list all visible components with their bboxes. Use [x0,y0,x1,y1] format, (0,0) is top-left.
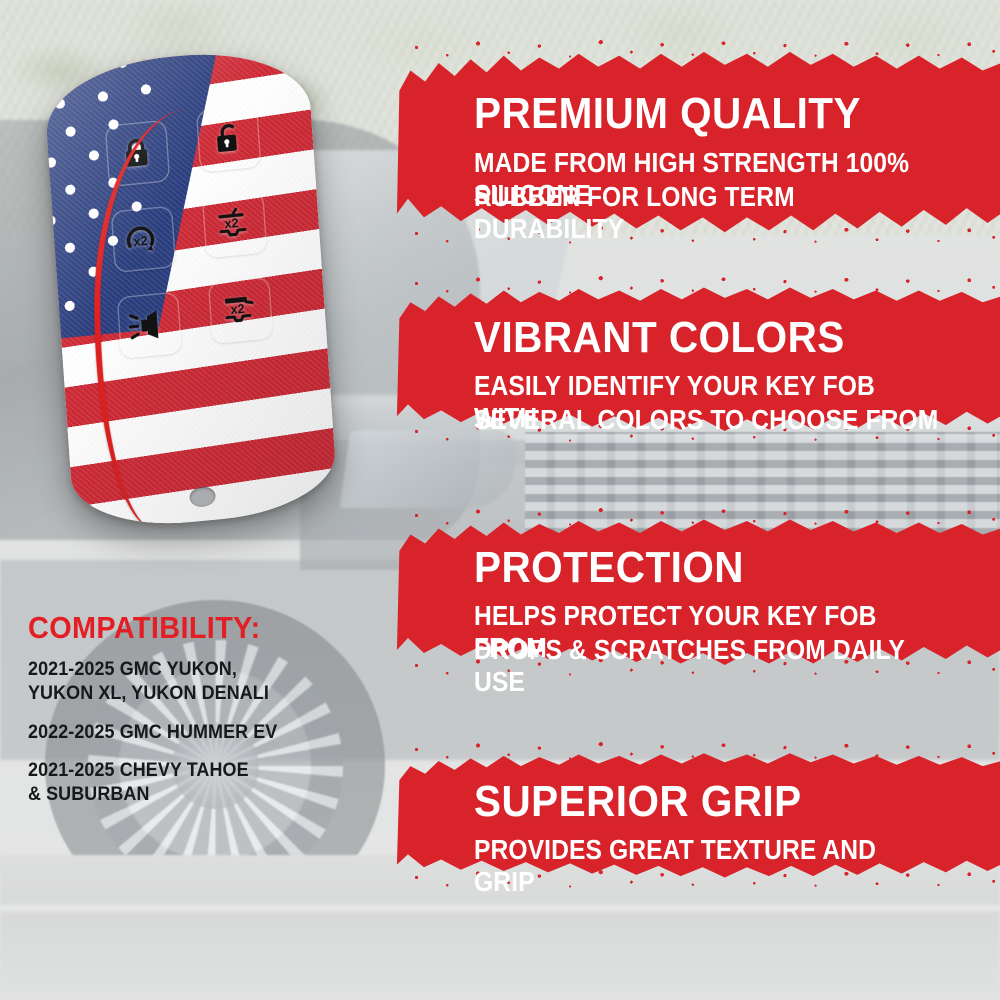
compatibility-section: COMPATIBILITY: 2021-2025 GMC YUKON, YUKO… [28,612,384,807]
feature-title: SUPERIOR GRIP [474,780,802,824]
feature-banner-vibrant-colors: VIBRANT COLORS EASILY IDENTIFY YOUR KEY … [392,286,1000,434]
compatibility-heading: COMPATIBILITY: [28,612,359,643]
feature-subtitle-line-2: SEVERAL COLORS TO CHOOSE FROM [474,404,938,436]
feature-subtitle-line-2: DROPS & SCRATCHES FROM DAILY USE [474,634,942,698]
compatibility-item: 2021-2025 CHEVY TAHOE & SUBURBAN [28,759,356,807]
feature-subtitle-line-1: PROVIDES GREAT TEXTURE AND GRIP [474,834,942,898]
feature-title: VIBRANT COLORS [474,316,845,360]
feature-title: PREMIUM QUALITY [474,92,861,136]
infographic-canvas: x2 x2 [0,0,1000,1000]
feature-banner-premium-quality: PREMIUM QUALITY MADE FROM HIGH STRENGTH … [392,50,1000,236]
feature-subtitle-line-2: RUBBER FOR LONG TERM DURABILITY [474,181,942,245]
compatibility-item: 2021-2025 GMC YUKON, YUKON XL, YUKON DEN… [28,658,356,706]
feature-title: PROTECTION [474,546,744,590]
feature-banner-protection: PROTECTION HELPS PROTECT YOUR KEY FOB FR… [392,518,1000,668]
product-image: x2 x2 [30,48,350,538]
feature-banner-superior-grip: SUPERIOR GRIP PROVIDES GREAT TEXTURE AND… [392,752,1000,880]
key-fob-cover: x2 x2 [42,44,338,533]
compatibility-item: 2022-2025 GMC HUMMER EV [28,721,356,745]
